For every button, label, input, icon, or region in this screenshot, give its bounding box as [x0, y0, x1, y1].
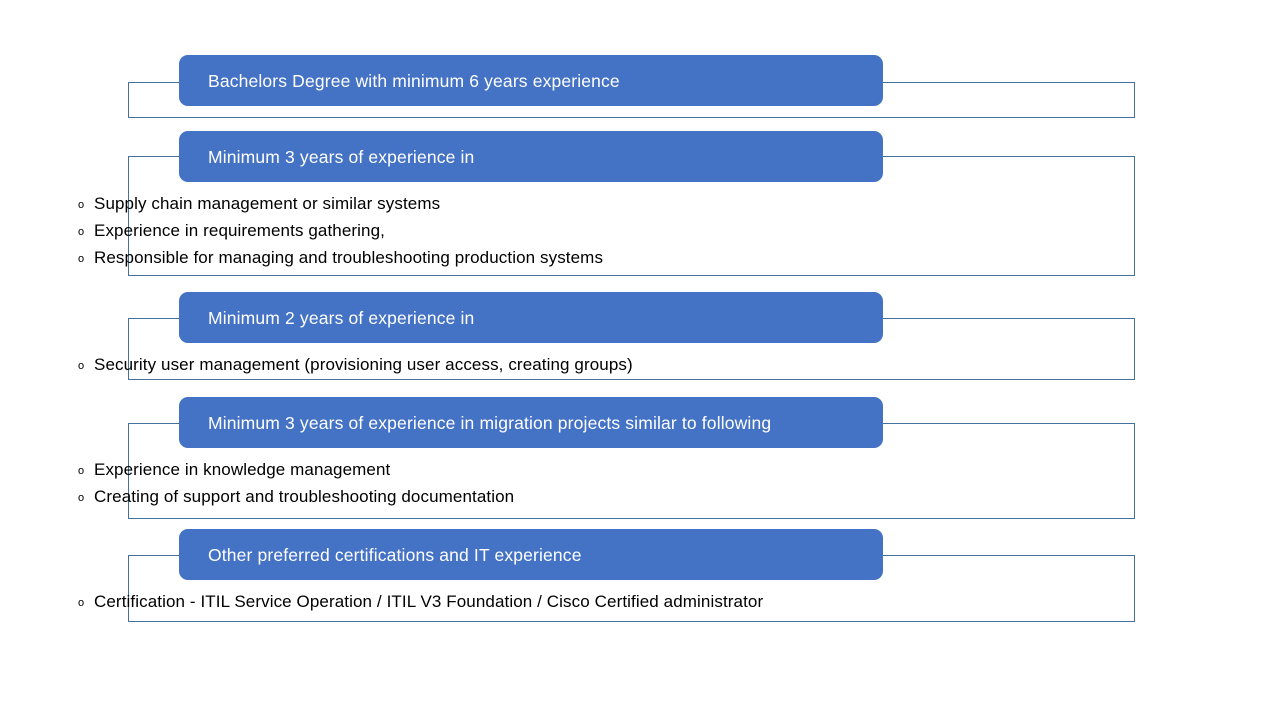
circle-bullet-icon: o — [78, 485, 94, 512]
requirement-header-bar[interactable]: Bachelors Degree with minimum 6 years ex… — [179, 55, 883, 106]
circle-bullet-icon: o — [78, 192, 94, 219]
list-item: oCertification - ITIL Service Operation … — [0, 588, 78, 615]
requirement-header-label: Other preferred certifications and IT ex… — [208, 545, 582, 565]
list-item: oResponsible for managing and troublesho… — [0, 244, 78, 271]
list-item: oExperience in knowledge management — [0, 456, 78, 483]
requirement-header-label: Minimum 3 years of experience in — [208, 147, 474, 167]
list-item-label: Creating of support and troubleshooting … — [94, 483, 514, 510]
list-item-label: Experience in requirements gathering, — [94, 217, 385, 244]
list-item: oSupply chain management or similar syst… — [0, 190, 78, 217]
circle-bullet-icon: o — [78, 219, 94, 246]
circle-bullet-icon: o — [78, 590, 94, 617]
list-item-label: Certification - ITIL Service Operation /… — [94, 588, 763, 615]
list-item-label: Security user management (provisioning u… — [94, 351, 633, 378]
list-item-label: Experience in knowledge management — [94, 456, 390, 483]
requirement-header-bar[interactable]: Minimum 3 years of experience in — [179, 131, 883, 182]
list-item-label: Supply chain management or similar syste… — [94, 190, 440, 217]
requirement-header-bar[interactable]: Other preferred certifications and IT ex… — [179, 529, 883, 580]
list-item: oSecurity user management (provisioning … — [0, 351, 78, 378]
requirement-header-bar[interactable]: Minimum 2 years of experience in — [179, 292, 883, 343]
requirement-header-bar[interactable]: Minimum 3 years of experience in migrati… — [179, 397, 883, 448]
list-item: oCreating of support and troubleshooting… — [0, 483, 78, 510]
list-item-label: Responsible for managing and troubleshoo… — [94, 244, 603, 271]
slide-canvas: Bachelors Degree with minimum 6 years ex… — [0, 0, 1280, 720]
circle-bullet-icon: o — [78, 353, 94, 380]
requirement-header-label: Minimum 2 years of experience in — [208, 308, 474, 328]
requirement-header-label: Bachelors Degree with minimum 6 years ex… — [208, 71, 620, 91]
circle-bullet-icon: o — [78, 246, 94, 273]
list-item: oExperience in requirements gathering, — [0, 217, 78, 244]
requirement-header-label: Minimum 3 years of experience in migrati… — [208, 413, 771, 433]
circle-bullet-icon: o — [78, 458, 94, 485]
